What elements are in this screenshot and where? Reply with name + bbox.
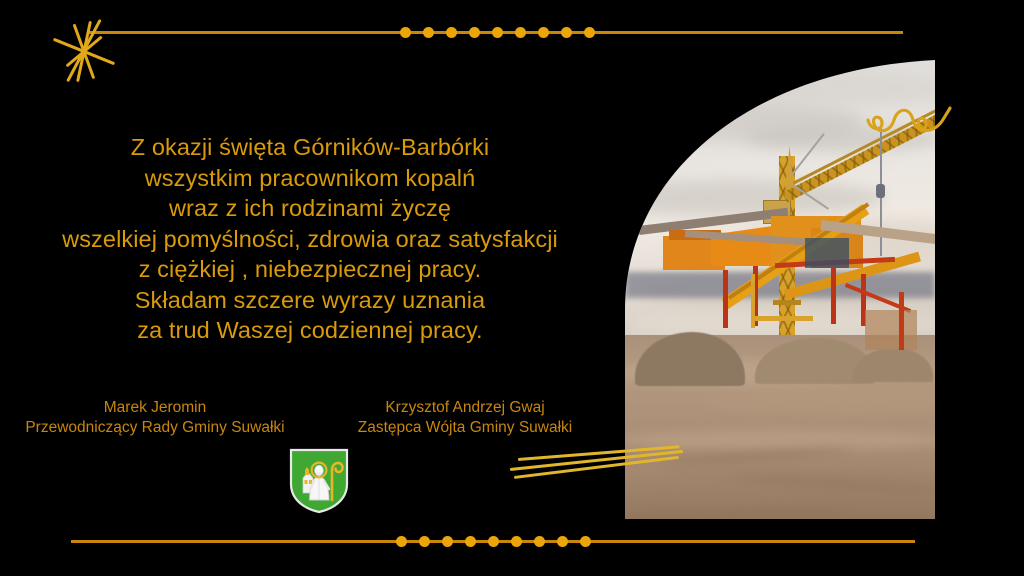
decor-dot bbox=[515, 27, 526, 38]
bottom-dot-row bbox=[396, 536, 591, 547]
signatory-title: Zastępca Wójta Gminy Suwałki bbox=[310, 418, 620, 438]
greeting-message: Z okazji święta Górników-Barbórki wszyst… bbox=[10, 132, 610, 346]
decor-dot bbox=[396, 536, 407, 547]
decor-dot bbox=[538, 27, 549, 38]
decor-dot bbox=[469, 27, 480, 38]
message-line-6: Składam szczere wyrazy uznania bbox=[10, 285, 610, 316]
gold-squiggle-flourish bbox=[866, 98, 952, 144]
top-dot-row bbox=[400, 27, 595, 38]
decor-dot bbox=[584, 27, 595, 38]
starburst-ornament bbox=[46, 8, 122, 94]
message-line-5: z ciężkiej , niebezpiecznej pracy. bbox=[10, 254, 610, 285]
signature-left: Marek Jeromin Przewodniczący Rady Gminy … bbox=[0, 398, 310, 438]
message-line-2: wszystkim pracownikom kopalń bbox=[10, 163, 610, 194]
coat-of-arms-icon bbox=[289, 448, 349, 514]
decor-dot bbox=[557, 536, 568, 547]
signatory-name: Marek Jeromin bbox=[0, 398, 310, 418]
decor-dot bbox=[492, 27, 503, 38]
decor-dot bbox=[561, 27, 572, 38]
message-line-4: wszelkiej pomyślności, zdrowia oraz saty… bbox=[10, 224, 610, 255]
decor-dot bbox=[511, 536, 522, 547]
squiggle-icon bbox=[866, 98, 952, 144]
decor-dot bbox=[423, 27, 434, 38]
decor-dot bbox=[446, 27, 457, 38]
decor-dot bbox=[419, 536, 430, 547]
message-line-1: Z okazji święta Górników-Barbórki bbox=[10, 132, 610, 163]
signature-block: Marek Jeromin Przewodniczący Rady Gminy … bbox=[0, 398, 620, 438]
decor-dot bbox=[400, 27, 411, 38]
decor-dot bbox=[465, 536, 476, 547]
decor-dot bbox=[534, 536, 545, 547]
message-line-7: za trud Waszej codziennej pracy. bbox=[10, 315, 610, 346]
signatory-title: Przewodniczący Rady Gminy Suwałki bbox=[0, 418, 310, 438]
slide-canvas: Z okazji święta Górników-Barbórki wszyst… bbox=[0, 0, 1024, 576]
signature-right: Krzysztof Andrzej Gwaj Zastępca Wójta Gm… bbox=[310, 398, 620, 438]
decor-dot bbox=[442, 536, 453, 547]
coat-of-arms-gmina-suwalki bbox=[289, 448, 349, 514]
decor-dot bbox=[488, 536, 499, 547]
decor-dot bbox=[580, 536, 591, 547]
diagonal-gold-strokes bbox=[508, 446, 688, 484]
message-line-3: wraz z ich rodzinami życzę bbox=[10, 193, 610, 224]
signatory-name: Krzysztof Andrzej Gwaj bbox=[310, 398, 620, 418]
